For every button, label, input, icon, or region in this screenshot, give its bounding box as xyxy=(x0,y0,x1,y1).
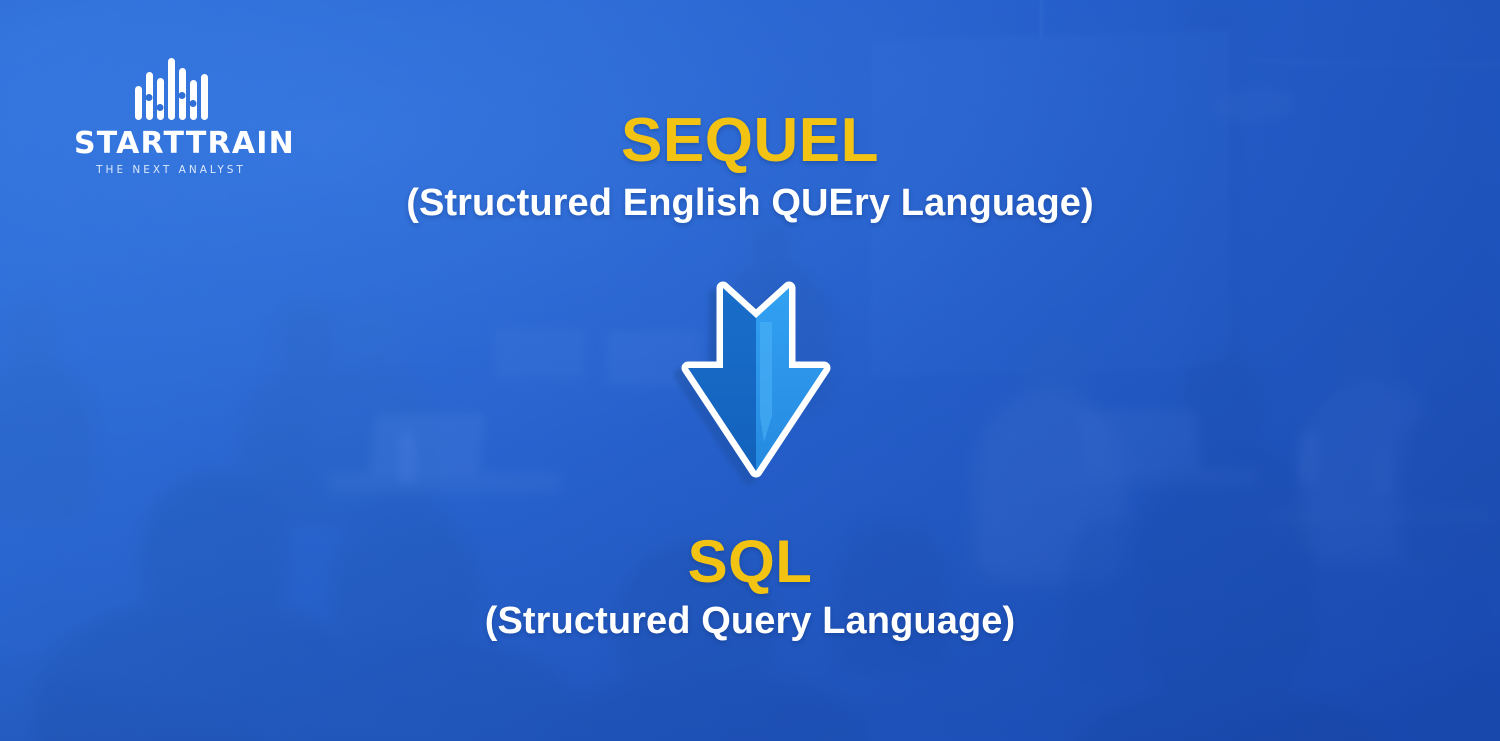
sql-term: SQL xyxy=(0,532,1500,592)
slide-content: STARTTRAIN THE NEXT ANALYST SEQUEL (Stru… xyxy=(0,0,1500,741)
sequel-expansion: (Structured English QUEry Language) xyxy=(0,180,1500,226)
down-arrow-icon xyxy=(668,266,844,498)
sql-expansion: (Structured Query Language) xyxy=(0,598,1500,644)
sequel-term: SEQUEL xyxy=(0,110,1500,172)
slide-canvas: STARTTRAIN THE NEXT ANALYST SEQUEL (Stru… xyxy=(0,0,1500,741)
